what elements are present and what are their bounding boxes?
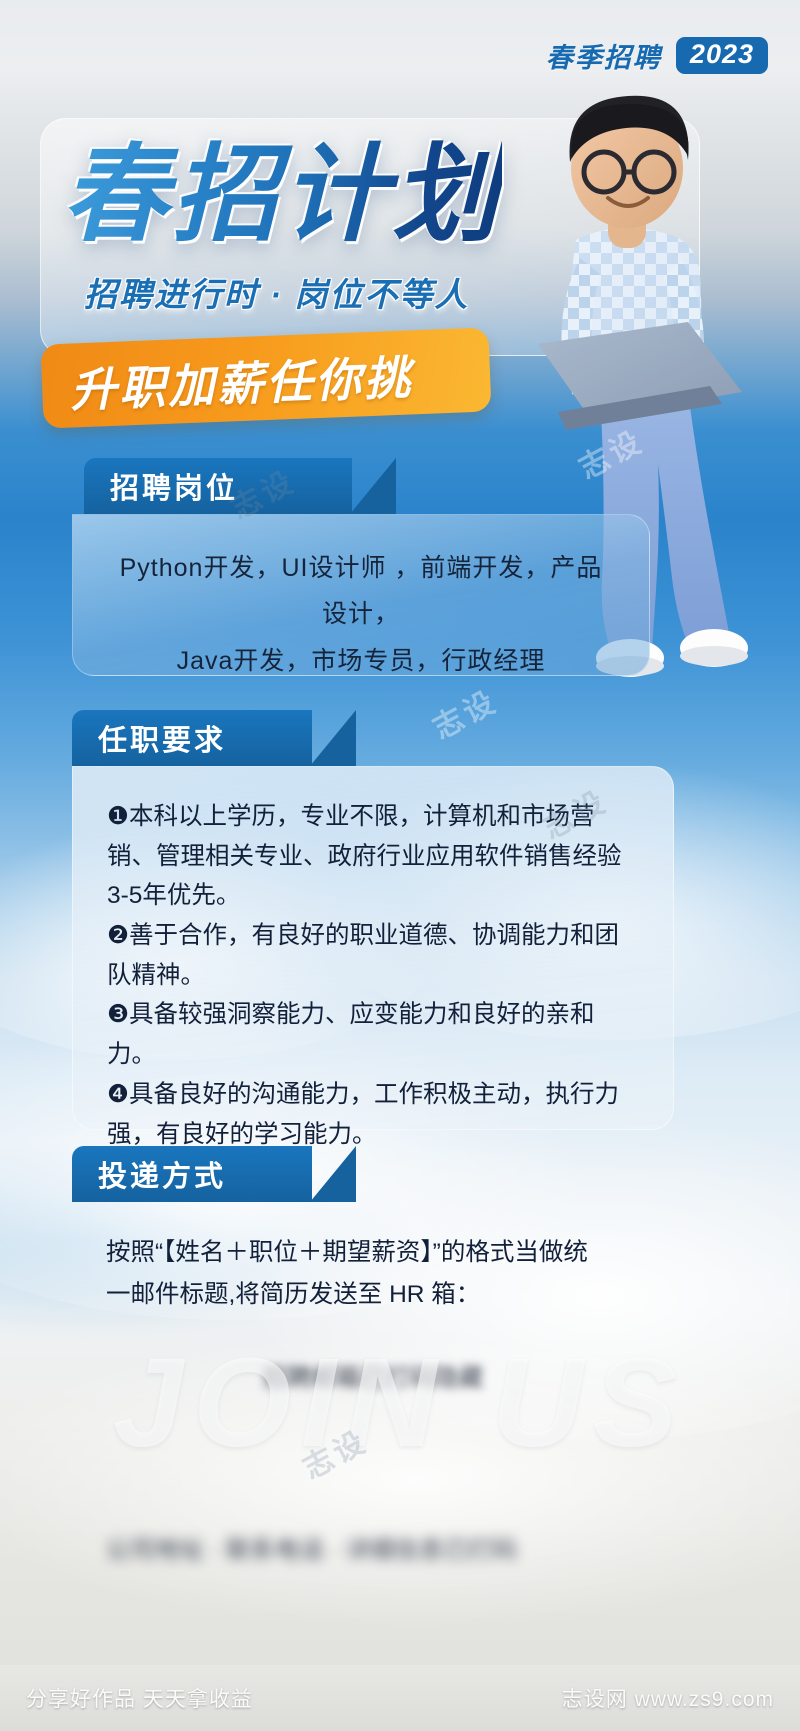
year-badge: 2023: [676, 37, 768, 74]
apply-line-1: 按照“【姓名＋职位＋期望薪资】”的格式当做统: [106, 1232, 640, 1274]
header-wedge: [310, 1146, 356, 1202]
apply-line-2: 一邮件标题,将简历发送至 HR 箱：: [106, 1274, 640, 1316]
promo-banner-label: 升职加薪任你挑: [69, 341, 414, 420]
requirements-list: ❶本科以上学历，专业不限，计算机和市场营销、管理相关专业、政府行业应用软件销售经…: [107, 797, 639, 1154]
hero-slogan: 招聘进行时 · 岗位不等人: [84, 268, 469, 316]
section-title-requirements: 任职要求: [72, 717, 226, 759]
footer-left-text: 分享好作品 天天拿收益: [26, 1683, 253, 1713]
requirement-item: ❷善于合作，有良好的职业道德、协调能力和团队精神。: [107, 916, 639, 995]
section-body-apply: 按照“【姓名＋职位＋期望薪资】”的格式当做统 一邮件标题,将简历发送至 HR 箱…: [72, 1202, 674, 1582]
section-title-apply: 投递方式: [72, 1153, 226, 1195]
redacted-email: 招聘邮箱已打码隐藏: [106, 1358, 640, 1400]
header-wedge: [350, 458, 396, 514]
section-header-apply: 投递方式: [72, 1146, 312, 1202]
promo-banner: 升职加薪任你挑: [41, 327, 492, 428]
page-title: 春招计划: [62, 140, 502, 251]
redacted-address: 公司地址 · 联系电话 · 详细信息已打码: [106, 1530, 640, 1572]
season-label: 春季招聘: [546, 36, 662, 75]
section-header-jobs: 招聘岗位: [84, 458, 352, 514]
section-header-requirements: 任职要求: [72, 710, 312, 766]
jobs-line-2: Java开发，市场专员，行政经理: [107, 638, 615, 684]
season-badge-group: 春季招聘 2023: [546, 36, 768, 75]
requirement-item: ❹具备良好的沟通能力，工作积极主动，执行力强，有良好的学习能力。: [107, 1075, 639, 1154]
recruitment-poster: 春季招聘 2023 春招计划 招聘进行时 · 岗位不等人 升职加薪任你挑: [0, 0, 800, 1731]
footer-right-text: 志设网 www.zs9.com: [562, 1683, 774, 1713]
footer-bar: 分享好作品 天天拿收益 志设网 www.zs9.com: [0, 1665, 800, 1731]
header-wedge: [310, 710, 356, 766]
jobs-line-1: Python开发，UI设计师 ，前端开发，产品设计，: [107, 545, 615, 638]
section-body-requirements: ❶本科以上学历，专业不限，计算机和市场营销、管理相关专业、政府行业应用软件销售经…: [72, 766, 674, 1130]
requirement-item: ❸具备较强洞察能力、应变能力和良好的亲和力。: [107, 995, 639, 1074]
section-title-jobs: 招聘岗位: [84, 465, 238, 507]
section-body-jobs: Python开发，UI设计师 ，前端开发，产品设计， Java开发，市场专员，行…: [72, 514, 650, 676]
requirement-item: ❶本科以上学历，专业不限，计算机和市场营销、管理相关专业、政府行业应用软件销售经…: [107, 797, 639, 916]
